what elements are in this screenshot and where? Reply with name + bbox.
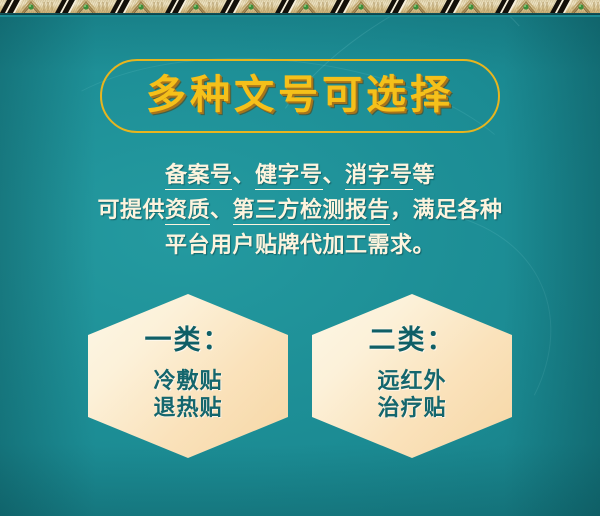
category-2-item-1: 远红外 <box>377 368 446 395</box>
line2-tail: ，满足各种 <box>390 198 503 223</box>
sep-3: 、 <box>210 198 233 223</box>
category-2-title: 二类： <box>369 327 456 354</box>
category-1-item-2: 退热贴 <box>153 395 222 422</box>
border-teal-rule <box>0 15 600 17</box>
service-qualification: 资质 <box>165 198 210 225</box>
line1-tail: 等 <box>413 163 436 188</box>
category-1-title: 一类： <box>145 327 232 354</box>
page-title: 多种文号可选择 <box>146 75 454 118</box>
poster-canvas: 多种文号可选择 备案号、健字号、消字号等 可提供资质、第三方检测报告，满足各种 … <box>0 0 600 516</box>
doc-type-xiaozi: 消字号 <box>345 163 413 190</box>
description-block: 备案号、健字号、消字号等 可提供资质、第三方检测报告，满足各种 平台用户贴牌代加… <box>0 158 600 263</box>
service-third-party-report: 第三方检测报告 <box>233 198 391 225</box>
doc-type-jianzi: 健字号 <box>255 163 323 190</box>
description-line-2: 可提供资质、第三方检测报告，满足各种 <box>0 193 600 228</box>
description-line-3: 平台用户贴牌代加工需求。 <box>0 228 600 263</box>
sep-1: 、 <box>232 163 255 188</box>
line2-head: 可提供 <box>97 198 165 223</box>
border-pattern-icon <box>0 0 600 13</box>
description-line-1: 备案号、健字号、消字号等 <box>0 158 600 193</box>
sep-2: 、 <box>323 163 346 188</box>
doc-type-beian: 备案号 <box>165 163 233 190</box>
title-banner: 多种文号可选择 <box>100 59 500 133</box>
ornamental-top-border <box>0 0 600 17</box>
category-2-item-2: 治疗贴 <box>377 395 446 422</box>
category-1-item-1: 冷敷贴 <box>153 368 222 395</box>
